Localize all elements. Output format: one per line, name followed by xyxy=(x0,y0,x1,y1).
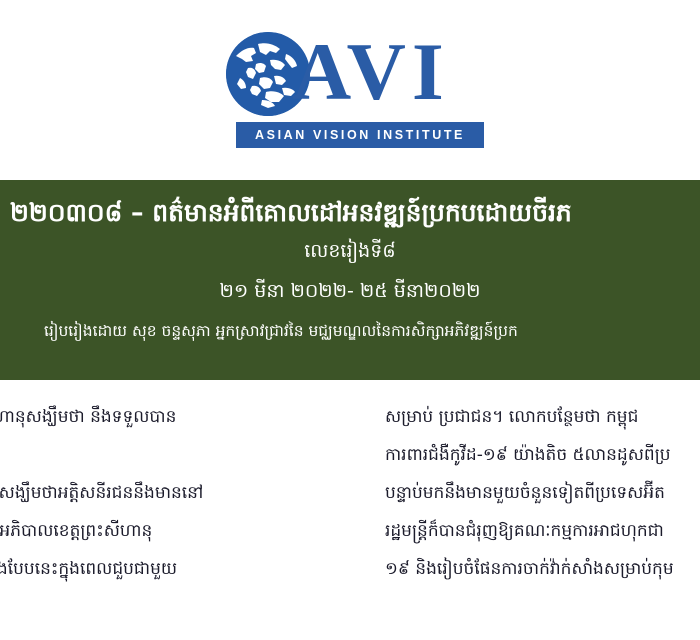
title-banner: ២២០៣០៨ – ពត៌មានអំពីគោលដៅអនវឌ្ឍន៍ប្រកបដោយ… xyxy=(0,180,700,380)
avi-logo: AVI ASIAN VISION INSTITUTE xyxy=(0,26,700,154)
logo-wordmark: AVI xyxy=(292,22,450,122)
body-line: បន្ទាប់មកនឹងមានមួយចំនួនទៀតពីប្រទេសអ៊ីត xyxy=(385,474,700,512)
body-line: ១៩ និងរៀបចំផែនការចាក់វ៉ាក់សាំងសម្រាប់កុម xyxy=(385,550,700,588)
body-line: ការពារជំងឺកូវីដ-១៩ យ៉ាងតិច ៥លានដូសពីប្រ xyxy=(385,436,700,474)
banner-issue-number: លេខរៀងទី៨ xyxy=(0,236,700,266)
body-line: ។ នេះបើតាមអភិបាលខេត្តព្រះសីហានុ xyxy=(0,512,336,550)
document-page: AVI ASIAN VISION INSTITUTE ២២០៣០៨ – ពត៌ម… xyxy=(0,0,700,640)
banner-title: ២២០៣០៨ – ពត៌មានអំពីគោលដៅអនវឌ្ឍន៍ប្រកបដោយ… xyxy=(10,196,572,230)
body-line: ត្តព្រះសីហានុសង្ឃឹមថាអត្តិសនីរជននឹងមាននៅ xyxy=(0,474,336,512)
body-column-left: ងខេត្តព្រះសីហានុសង្ឃឹមថា នឹងទទួលបាន ត្តព… xyxy=(0,398,336,588)
logo-tagline: ASIAN VISION INSTITUTE xyxy=(236,122,484,148)
body-line: សម្រាប់ ប្រជាជន។ លោកបន្ថែមថា កម្ពុជ xyxy=(385,398,700,436)
body-line: រដ្ឋមន្ត្រីក៏បានជំរុញឱ្យគណៈកម្មការអាជហុក… xyxy=(385,512,700,550)
logo-inner: AVI ASIAN VISION INSTITUTE xyxy=(216,26,484,150)
banner-author-line: រៀបរៀងដោយ សុខ ចន្ទសុភា អ្នកស្រាវជ្រាវនៃ … xyxy=(44,318,518,344)
body-line: លោកបានថ្លែងបែបនេះក្នុងពេលជួបជាមួយ xyxy=(0,550,336,588)
banner-date-range: ២១ មីនា ២០២២- ២៥ មីនា២០២២ xyxy=(0,276,700,306)
body-column-right: សម្រាប់ ប្រជាជន។ លោកបន្ថែមថា កម្ពុជ ការព… xyxy=(385,398,700,588)
body-columns: ងខេត្តព្រះសីហានុសង្ឃឹមថា នឹងទទួលបាន ត្តព… xyxy=(0,398,700,640)
body-line: ងខេត្តព្រះសីហានុសង្ឃឹមថា នឹងទទួលបាន xyxy=(0,398,336,436)
